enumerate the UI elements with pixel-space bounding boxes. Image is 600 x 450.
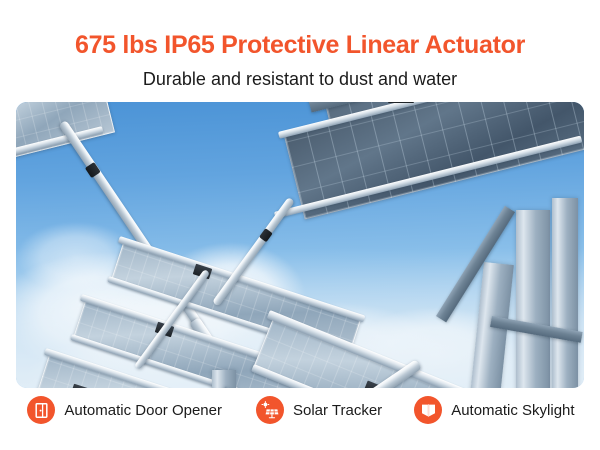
feature-label: Automatic Door Opener [64, 403, 222, 418]
page-subtitle: Durable and resistant to dust and water [0, 68, 600, 91]
heading-block: 675 lbs IP65 Protective Linear Actuator … [0, 0, 600, 92]
feature-item-skylight[interactable]: Automatic Skylight [414, 396, 574, 424]
support-column [516, 210, 550, 388]
feature-item-solar-tracker[interactable]: Solar Tracker [256, 396, 382, 424]
mounting-bracket [388, 102, 414, 103]
feature-label: Automatic Skylight [451, 403, 574, 418]
page-title: 675 lbs IP65 Protective Linear Actuator [0, 30, 600, 61]
solar-panel-icon [256, 396, 284, 424]
product-banner: 675 lbs IP65 Protective Linear Actuator … [0, 0, 600, 450]
skylight-icon [414, 396, 442, 424]
feature-item-door-opener[interactable]: Automatic Door Opener [27, 396, 222, 424]
product-photo [16, 102, 584, 388]
feature-list: Automatic Door Opener [0, 396, 600, 424]
door-icon [27, 396, 55, 424]
support-column [212, 370, 236, 388]
feature-label: Solar Tracker [293, 403, 382, 418]
support-column [552, 198, 578, 388]
